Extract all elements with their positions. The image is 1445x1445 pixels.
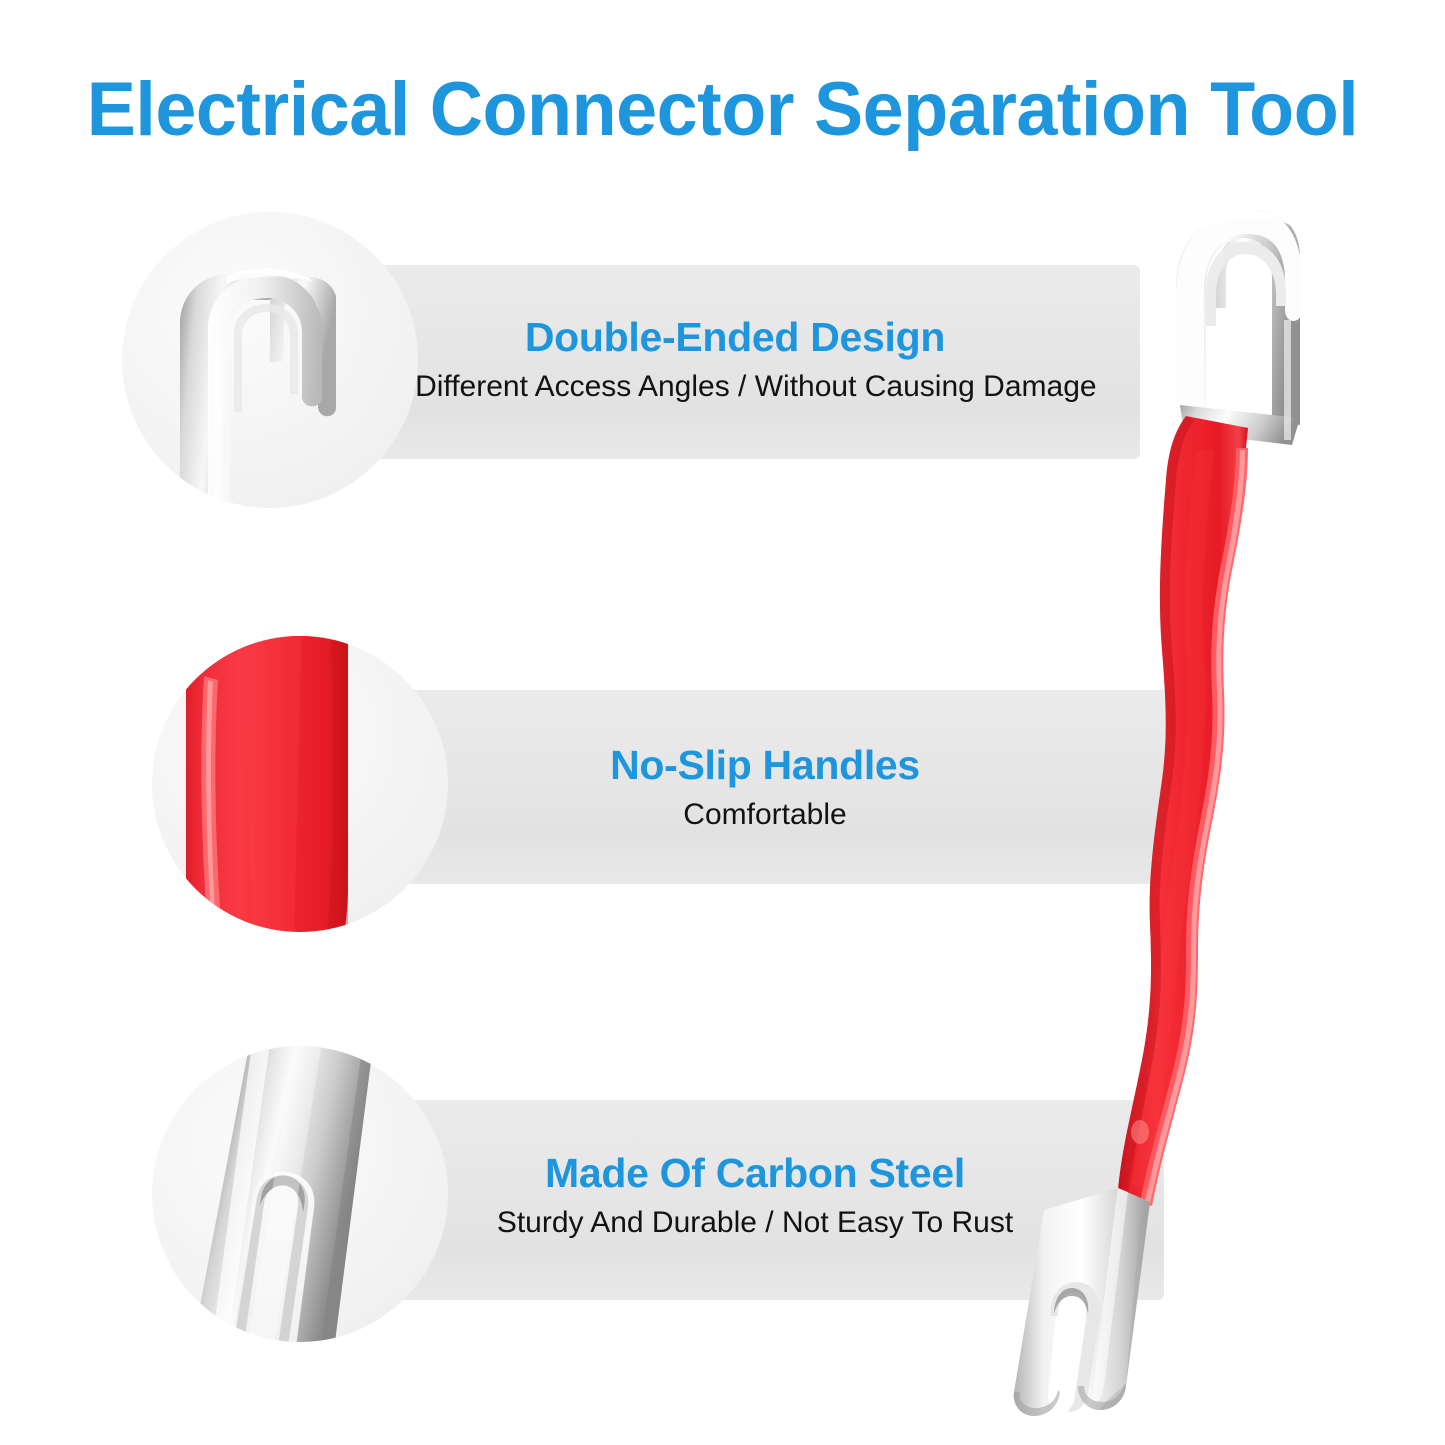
tool-bottom-forked-blade	[1014, 1188, 1150, 1416]
page-title: Electrical Connector Separation Tool	[22, 66, 1424, 153]
product-image-main-tool	[1000, 180, 1420, 1430]
steel-forked-tip-closeup-icon	[122, 212, 418, 508]
electrical-connector-separation-tool-illustration	[1000, 180, 1420, 1430]
thumbnail-circle-made-of-carbon-steel	[152, 1046, 448, 1342]
product-infographic: Electrical Connector Separation Tool Dou…	[0, 0, 1445, 1445]
tool-top-forked-tip	[1176, 210, 1302, 445]
thumbnail-circle-double-ended-design	[122, 212, 418, 508]
carbon-steel-blade-closeup-icon	[152, 1046, 448, 1342]
tool-red-handle	[1118, 416, 1248, 1206]
red-handle-closeup-icon	[152, 636, 448, 932]
thumbnail-circle-no-slip-handles	[152, 636, 448, 932]
